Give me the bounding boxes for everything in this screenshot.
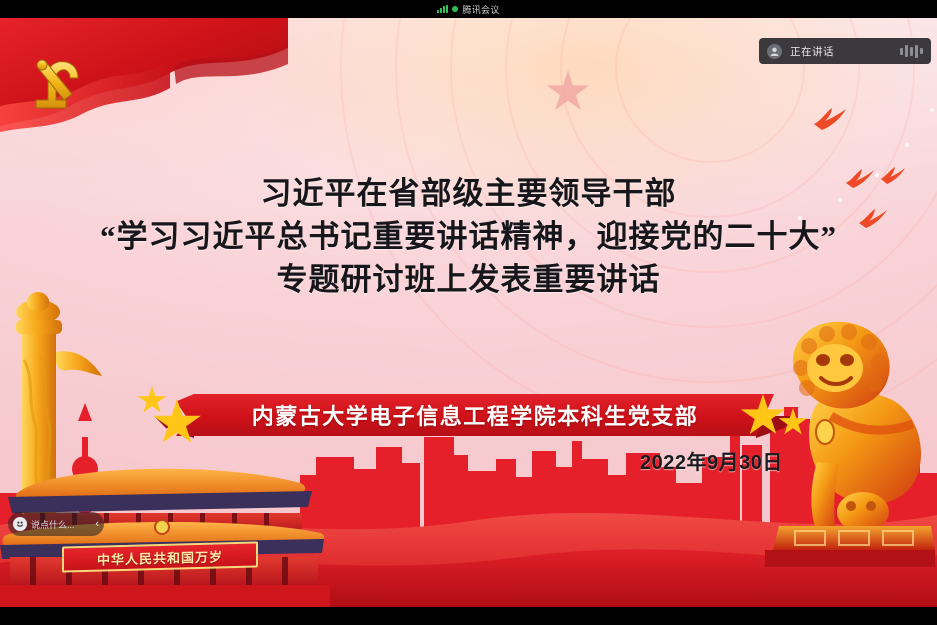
audio-wave-icon — [900, 45, 923, 58]
bottom-letterbox — [0, 607, 937, 625]
slide-date: 2022年9月30日 — [640, 446, 783, 475]
os-status-bar: 腾讯会议 — [0, 0, 937, 18]
screen-share-frame: 腾讯会议 — [0, 0, 937, 625]
chat-input-placeholder[interactable]: 说点什么... — [31, 518, 91, 531]
title-line-2: “学习习近平总书记重要讲话精神，迎接党的二十大” — [0, 216, 937, 259]
slide-title-block: 习近平在省部级主要领导干部 “学习习近平总书记重要讲话精神，迎接党的二十大” 专… — [0, 173, 937, 301]
hammer-and-sickle-icon — [26, 54, 88, 112]
speaking-indicator-overlay[interactable]: 正在讲话 — [759, 38, 931, 64]
signal-bars-icon — [437, 5, 448, 13]
chevron-left-icon[interactable]: ‹ — [95, 518, 99, 530]
status-bar-app-label: 腾讯会议 — [462, 3, 499, 16]
smiley-face-icon[interactable] — [13, 517, 27, 531]
five-pointed-star-icon — [546, 70, 590, 114]
gate-banner-text: 中华人民共和国万岁 — [62, 541, 258, 572]
flying-birds-icon — [812, 106, 848, 132]
person-icon — [767, 44, 782, 59]
organization-name: 内蒙古大学电子信息工程学院本科生党支部 — [176, 394, 774, 436]
title-line-3: 专题研讨班上发表重要讲话 — [0, 259, 937, 302]
organization-banner: 内蒙古大学电子信息工程学院本科生党支部 — [128, 386, 818, 444]
red-party-flag-icon — [0, 18, 288, 144]
title-line-1: 习近平在省部级主要领导干部 — [0, 173, 937, 216]
green-dot-icon — [452, 6, 458, 12]
five-pointed-star-icon — [137, 386, 167, 415]
chat-input-bar[interactable]: 说点什么... ‹ — [8, 512, 104, 536]
presentation-slide: 习近平在省部级主要领导干部 “学习习近平总书记重要讲话精神，迎接党的二十大” 专… — [0, 18, 937, 607]
speaking-label: 正在讲话 — [790, 44, 892, 59]
